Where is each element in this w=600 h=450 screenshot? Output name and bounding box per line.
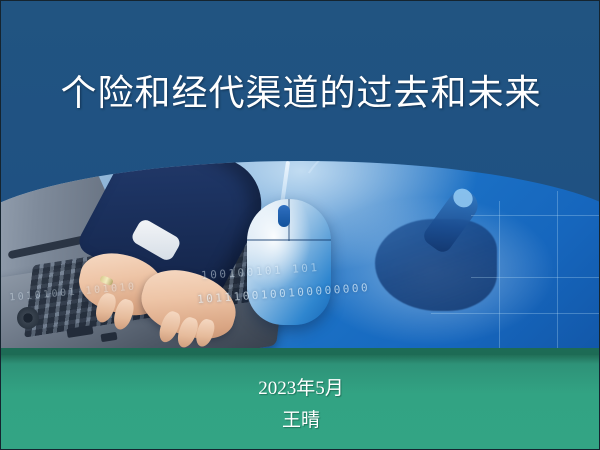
title-slide: 10101001 101010 100100101 101 1011100100…: [0, 0, 600, 450]
footer-accent-band: [1, 348, 600, 355]
tech-grid-line: [471, 215, 599, 216]
tech-grid-line: [499, 201, 500, 351]
subtitle-date: 2023年5月: [1, 376, 600, 402]
hero-image-band: 10101001 101010 100100101 101 1011100100…: [1, 161, 600, 353]
slide-footer: 2023年5月 王晴: [1, 348, 600, 449]
tech-grid-line: [557, 191, 558, 353]
subtitle-author: 王晴: [1, 408, 600, 434]
page-title: 个险和经代渠道的过去和未来: [60, 69, 541, 117]
hero-image-arc-mask: 10101001 101010 100100101 101 1011100100…: [1, 161, 600, 353]
tech-grid-line: [431, 313, 600, 314]
mouse-scroll-wheel-icon: [278, 205, 290, 227]
hero-image: 10101001 101010 100100101 101 1011100100…: [1, 161, 600, 353]
tech-grid-line: [471, 277, 599, 278]
slide-title-container: 个险和经代渠道的过去和未来: [1, 69, 600, 117]
